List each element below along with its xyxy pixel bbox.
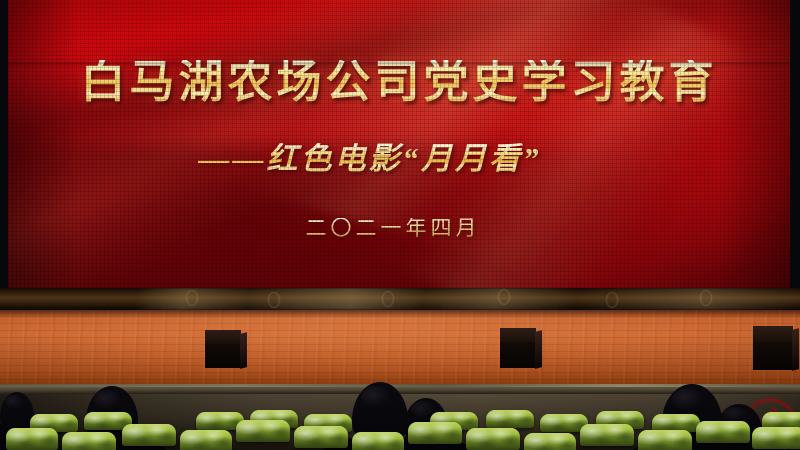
audience-seat — [294, 426, 348, 448]
hair-highlight — [361, 386, 390, 408]
floor-light-pool — [0, 310, 800, 384]
seat-shading — [638, 430, 692, 450]
audience-seat — [180, 430, 232, 450]
slide-date: 二〇二一年四月 — [8, 218, 790, 239]
hair-highlight — [5, 395, 23, 409]
audience-seat — [6, 428, 58, 450]
seat-shading — [180, 430, 232, 450]
audience-seat — [486, 410, 534, 428]
band-reflection-mark — [700, 290, 712, 306]
band-reflection-mark — [498, 289, 510, 305]
audience-seat — [752, 427, 800, 449]
led-screen-bezel: 白马湖农场公司党史学习教育 ——红色电影“月月看” 二〇二一年四月 — [0, 0, 800, 292]
monitor-left — [205, 330, 241, 368]
led-display-panel: 白马湖农场公司党史学习教育 ——红色电影“月月看” 二〇二一年四月 — [8, 0, 790, 288]
audience-seat — [236, 420, 290, 442]
monitor-right — [753, 326, 793, 370]
hair-highlight — [672, 388, 703, 410]
audience-seat — [696, 421, 750, 443]
seat-shading — [352, 432, 404, 450]
monitor-top-face — [753, 326, 793, 342]
band-sheen — [0, 288, 800, 310]
monitor-side-face — [792, 328, 799, 371]
slide-text-block: 白马湖农场公司党史学习教育 ——红色电影“月月看” 二〇二一年四月 — [8, 0, 790, 288]
slide-main-title: 白马湖农场公司党史学习教育 — [8, 60, 790, 105]
seat-shading — [122, 424, 176, 446]
audience-seat — [408, 422, 462, 444]
monitor-top-face — [500, 328, 536, 342]
seat-shading — [294, 426, 348, 448]
hair-highlight — [94, 390, 121, 410]
band-reflection-mark — [606, 292, 618, 308]
audience-seat — [62, 432, 116, 450]
floor-top-shadow — [0, 310, 800, 318]
auditorium-photo: 白马湖农场公司党史学习教育 ——红色电影“月月看” 二〇二一年四月 — [0, 0, 800, 450]
seat-shading — [62, 432, 116, 450]
seat-shading — [580, 424, 634, 446]
seat-shading — [486, 410, 534, 428]
audience-seat — [122, 424, 176, 446]
seat-shading — [466, 428, 520, 450]
monitor-top-face — [205, 330, 241, 344]
monitor-side-face — [535, 330, 542, 369]
audience-seat — [524, 433, 576, 450]
band-reflection-mark — [268, 292, 280, 308]
seat-shading — [236, 420, 290, 442]
slide-subtitle: ——红色电影“月月看” — [8, 143, 790, 174]
seat-shading — [6, 428, 58, 450]
monitor-center — [500, 328, 536, 368]
audience-seat — [638, 430, 692, 450]
band-reflection-mark — [186, 290, 198, 306]
seat-shading — [524, 433, 576, 450]
band-reflection-mark — [382, 291, 394, 307]
audience-seat — [352, 432, 404, 450]
monitor-side-face — [240, 332, 247, 369]
audience-seat — [466, 428, 520, 450]
audience-seat — [580, 424, 634, 446]
wooden-stage-floor — [0, 310, 800, 384]
seat-shading — [696, 421, 750, 443]
stage-back-reflective-band — [0, 288, 800, 310]
seat-shading — [752, 427, 800, 449]
seat-shading — [408, 422, 462, 444]
